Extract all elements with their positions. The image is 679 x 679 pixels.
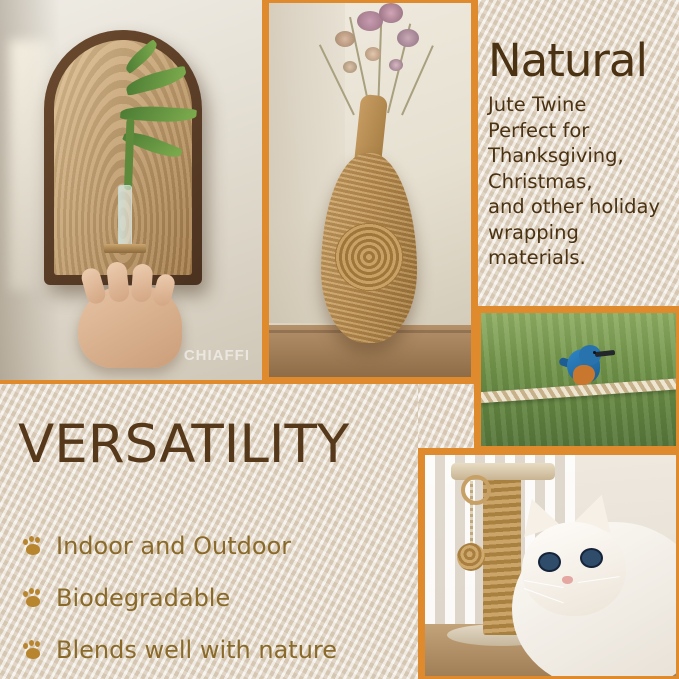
dried-flower <box>335 31 355 47</box>
bird-eye <box>593 351 596 354</box>
panel-cat-scratching-post <box>422 452 679 679</box>
kingfisher-bird <box>553 341 613 393</box>
panel-jute-arch-wall-art: CHIAFFI <box>0 0 262 380</box>
white-cat <box>504 484 679 679</box>
natural-line: wrapping materials. <box>488 220 678 271</box>
hanging-toy-ring <box>461 475 491 505</box>
feature-label: Indoor and Outdoor <box>56 532 291 560</box>
natural-body-text: Jute Twine Perfect for Thanksgiving, Chr… <box>488 92 678 271</box>
hand-holding-art <box>72 262 190 374</box>
divider-vertical-cat <box>418 448 422 679</box>
natural-line: Perfect for <box>488 118 678 144</box>
feature-label: Blends well with nature <box>56 636 337 664</box>
cat-head <box>522 522 626 616</box>
finger <box>79 266 107 306</box>
dried-flower <box>343 61 357 73</box>
feature-list: Indoor and Outdoor Biodegradable Blends … <box>22 520 402 676</box>
natural-line: Jute Twine <box>488 92 678 118</box>
watermark-text: CHIAFFI <box>184 347 250 364</box>
glass-test-tube <box>118 185 132 249</box>
dried-flower <box>379 3 403 23</box>
list-item: Biodegradable <box>22 572 402 624</box>
bird-belly <box>573 365 595 385</box>
list-item: Blends well with nature <box>22 624 402 676</box>
bird-beak <box>595 350 615 357</box>
divider-vertical-right <box>474 0 478 452</box>
natural-line: Christmas, <box>488 169 678 195</box>
paw-icon <box>22 639 44 661</box>
panel-jute-vase <box>266 0 474 380</box>
dried-flower <box>365 47 381 61</box>
divider-horizontal-lower <box>418 448 679 452</box>
list-item: Indoor and Outdoor <box>22 520 402 572</box>
paw-icon <box>22 535 44 557</box>
divider-horizontal-mid <box>0 380 478 384</box>
paw-icon <box>22 587 44 609</box>
wood-tube-holder <box>104 244 146 253</box>
hanging-toy-ball <box>457 543 485 571</box>
divider-horizontal-top <box>474 306 679 310</box>
divider-vertical-left <box>262 0 266 384</box>
feature-label: Biodegradable <box>56 584 230 612</box>
vase-spiral-detail <box>335 223 403 291</box>
cat-nose <box>562 576 573 584</box>
versatility-heading: VERSATILITY <box>18 414 349 475</box>
finger <box>106 261 130 303</box>
finger <box>131 263 154 302</box>
natural-heading: Natural <box>488 34 647 87</box>
product-collage: CHIAFFI Natural Jute Twine Perfect fo <box>0 0 679 679</box>
panel-versatility-text: VERSATILITY Indoor and Outdoor Biodegrad… <box>0 384 418 679</box>
panel-natural-text: Natural Jute Twine Perfect for Thanksgiv… <box>478 0 679 306</box>
dried-flower <box>389 59 403 71</box>
cat-eye-right <box>580 548 603 568</box>
natural-line: Thanksgiving, <box>488 143 678 169</box>
cat-eye-left <box>538 552 561 572</box>
dried-flower <box>397 29 419 47</box>
panel-kingfisher-on-rope <box>478 310 679 449</box>
natural-line: and other holiday <box>488 194 678 220</box>
